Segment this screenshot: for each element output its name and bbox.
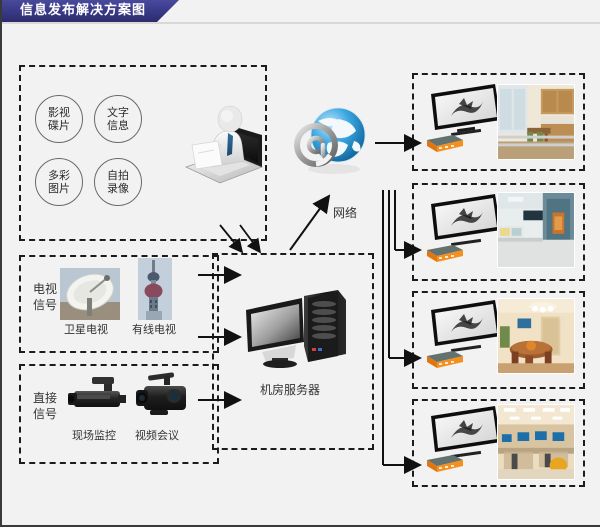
globe-at-symbol-icon xyxy=(294,103,372,175)
tv-signal-label-line2: 信号 xyxy=(28,297,62,313)
flat-tv-icon xyxy=(429,84,503,136)
direct-signal-label: 直接 信号 xyxy=(28,390,62,422)
video-conference-label: 视频会议 xyxy=(135,428,179,443)
media-player-box-icon xyxy=(423,135,465,155)
circle-line2: 录像 xyxy=(107,182,129,195)
tv-tower-icon xyxy=(138,258,172,320)
circle-line2: 碟片 xyxy=(48,119,70,132)
circle-line1: 自拍 xyxy=(107,169,129,182)
media-player-box-icon xyxy=(423,455,465,475)
content-circle-selfie-video: 自拍 录像 xyxy=(94,158,142,206)
network-label: 网络 xyxy=(333,206,357,221)
camcorder-icon xyxy=(134,372,194,420)
diagram-page: 信息发布解决方案图 影视 碟片 文字 信息 多彩 图片 自拍 录像 xyxy=(0,0,600,527)
content-circle-video-disc: 影视 碟片 xyxy=(35,95,83,143)
direct-signal-label-line2: 信号 xyxy=(28,406,62,422)
content-circle-colorful-pictures: 多彩 图片 xyxy=(35,158,83,206)
endpoint-scene-photo-4 xyxy=(497,404,575,480)
direct-signal-label-line1: 直接 xyxy=(28,390,62,406)
cable-tv-label: 有线电视 xyxy=(132,322,176,337)
media-player-box-icon xyxy=(423,351,465,371)
flat-tv-icon xyxy=(429,194,503,246)
flat-tv-icon xyxy=(429,300,503,352)
desktop-computer-icon xyxy=(242,290,352,370)
endpoint-scene-photo-1 xyxy=(497,84,575,160)
circle-line2: 图片 xyxy=(48,182,70,195)
satellite-tv-label: 卫星电视 xyxy=(64,322,108,337)
tv-signal-label: 电视 信号 xyxy=(28,281,62,313)
endpoint-scene-photo-2 xyxy=(497,192,575,268)
tv-signal-label-line1: 电视 xyxy=(28,281,62,297)
live-monitoring-label: 现场监控 xyxy=(72,428,116,443)
flat-tv-icon xyxy=(429,406,503,458)
circle-line1: 多彩 xyxy=(48,169,70,182)
page-title: 信息发布解决方案图 xyxy=(2,0,157,22)
endpoint-scene-photo-3 xyxy=(497,298,575,374)
content-circle-text-info: 文字 信息 xyxy=(94,95,142,143)
server-label: 机房服务器 xyxy=(260,383,320,398)
circle-line1: 影视 xyxy=(48,106,70,119)
banner-underline xyxy=(2,22,600,24)
banner-tail-shape xyxy=(157,0,179,22)
satellite-dish-icon xyxy=(60,268,120,320)
circle-line1: 文字 xyxy=(107,106,129,119)
circle-line2: 信息 xyxy=(107,119,129,132)
person-at-laptop-icon xyxy=(178,105,264,189)
media-player-box-icon xyxy=(423,245,465,265)
cctv-camera-icon xyxy=(68,375,130,419)
